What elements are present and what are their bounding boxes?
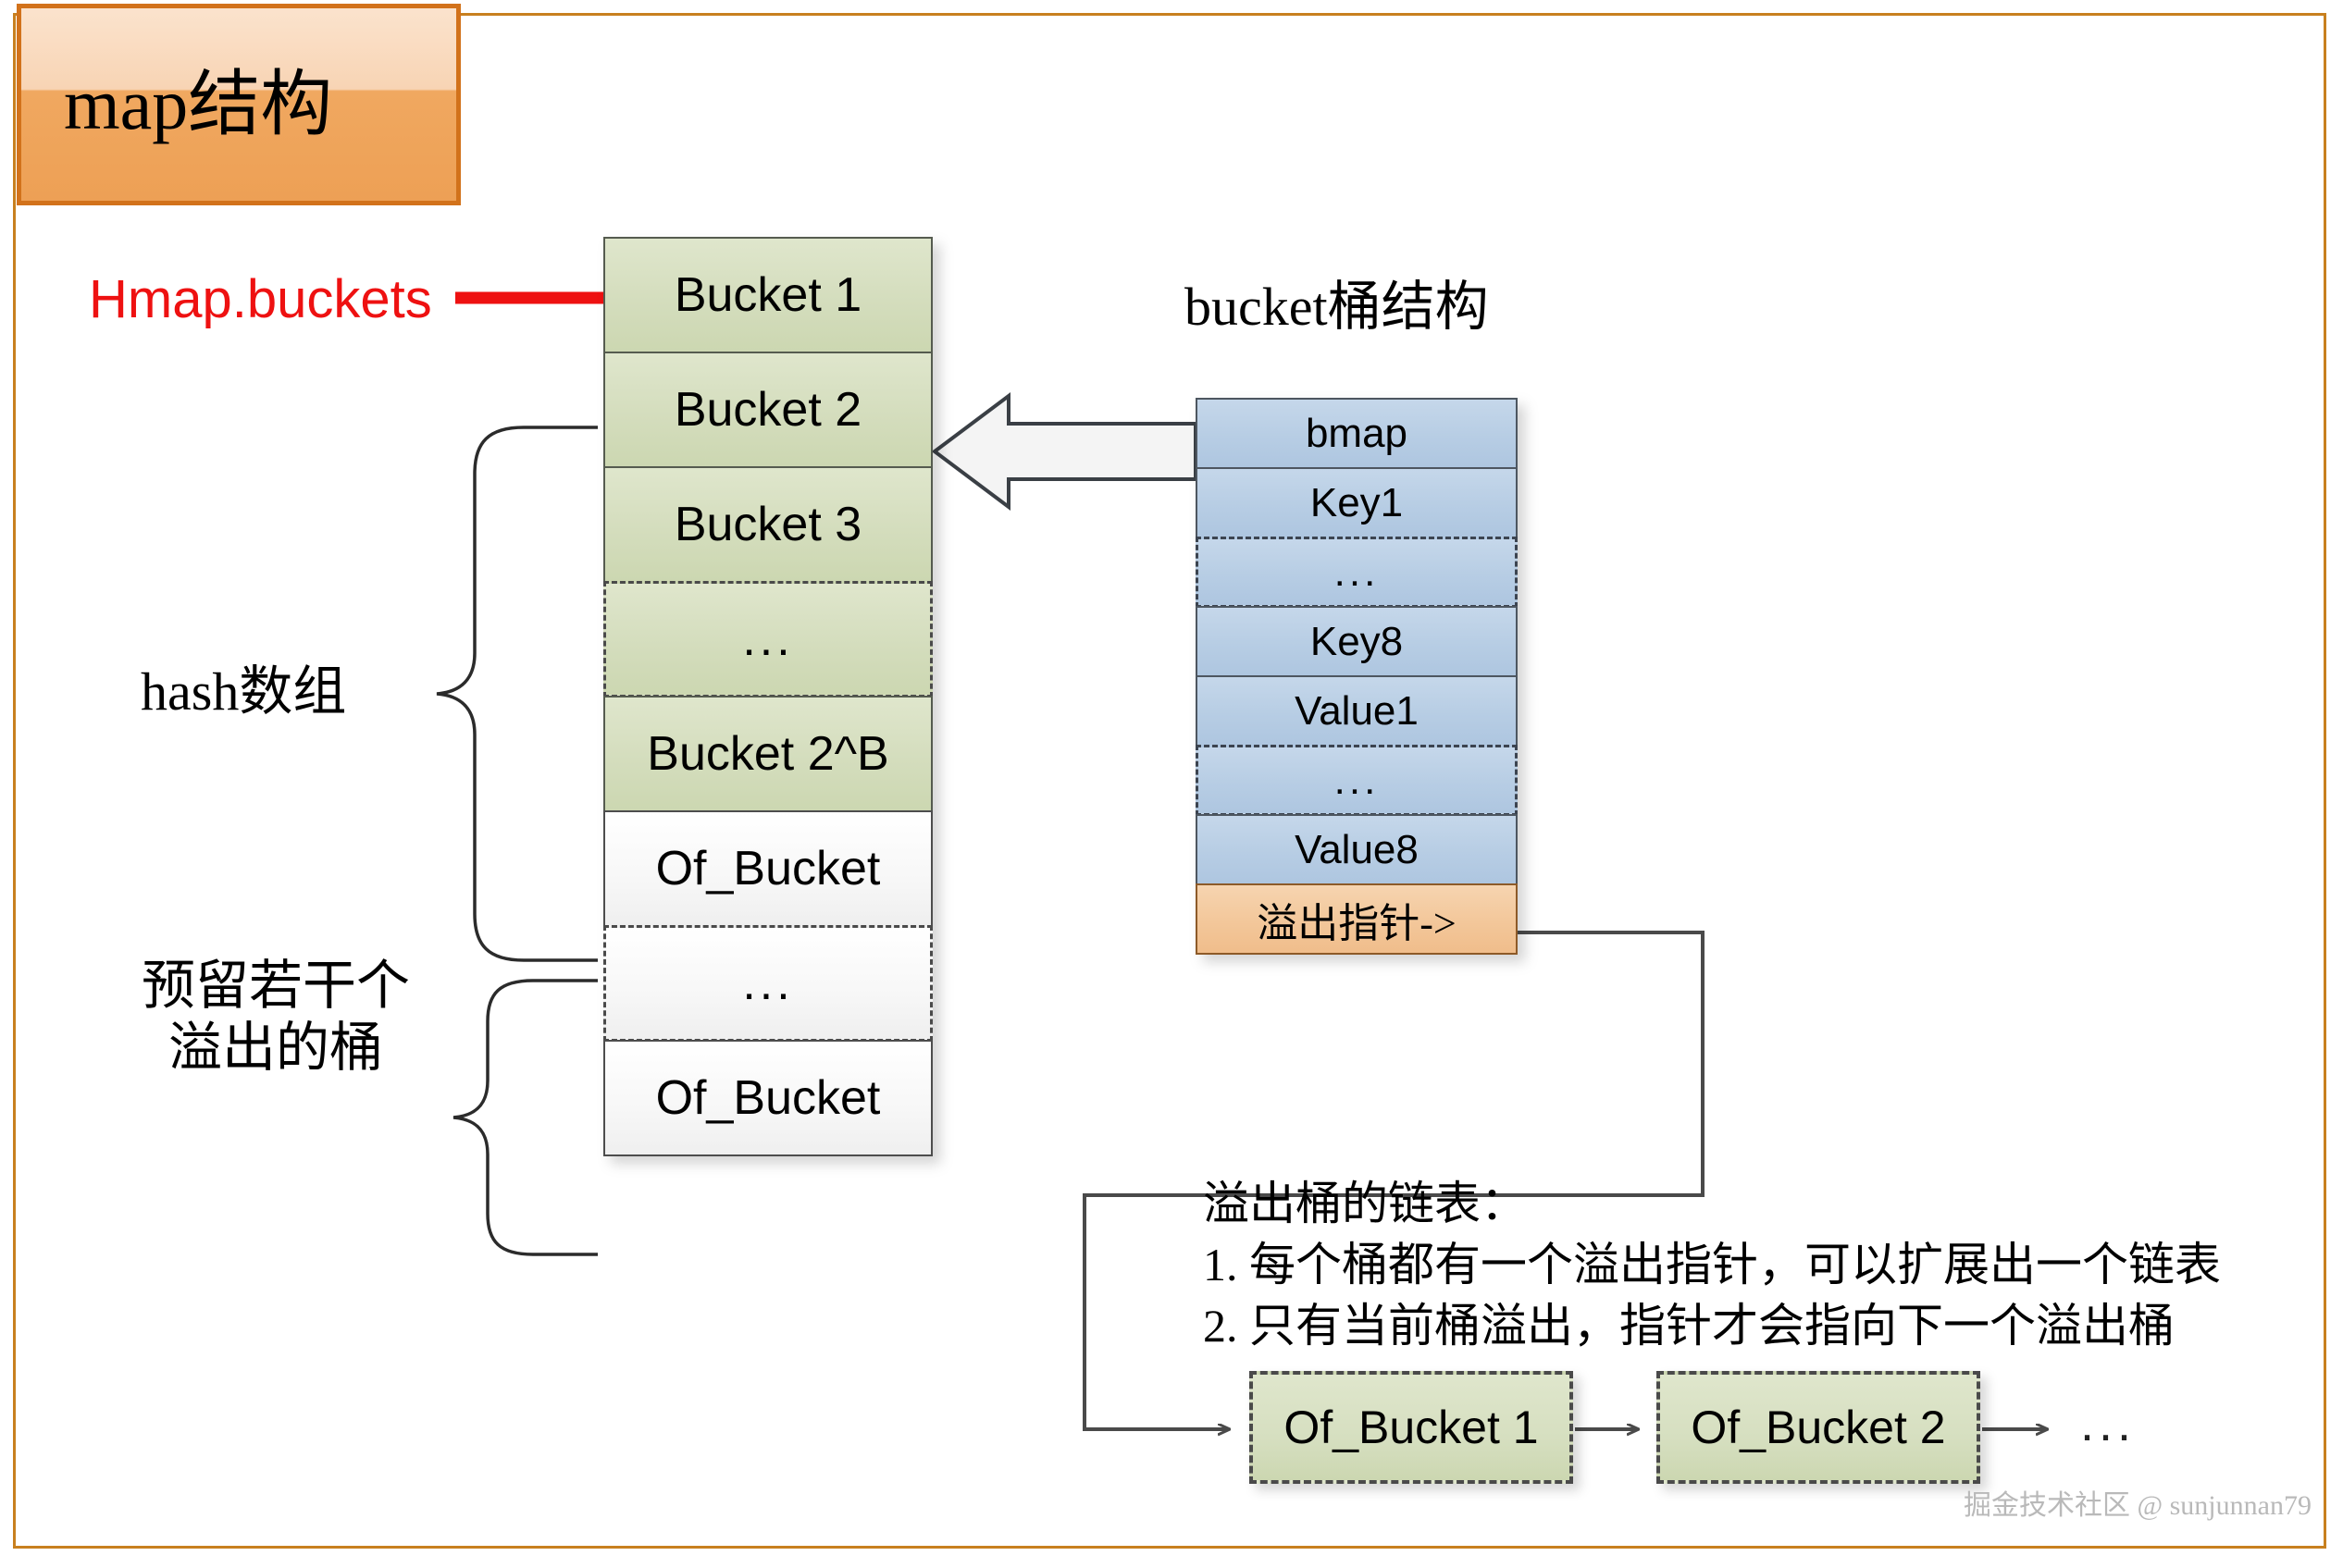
bucket-cell-label: ...	[742, 956, 793, 1011]
overflow-bucket-cell-ellipsis: ...	[603, 925, 933, 1042]
reserved-overflow-label: 预留若干个溢出的桶	[137, 955, 415, 1080]
bucket-cell-label: Of_Bucket	[656, 1070, 881, 1126]
bucket-cell-label: Bucket 2^B	[647, 726, 888, 782]
notes-item-2: 2. 只有当前桶溢出，指针才会指向下一个溢出桶	[1203, 1295, 2221, 1356]
notes-item-1: 1. 每个桶都有一个溢出指针，可以扩展出一个链表	[1203, 1234, 2221, 1295]
bmap-cell-value1[interactable]: Value1	[1196, 675, 1518, 747]
bucket-cell-3[interactable]: Bucket 3	[603, 466, 933, 583]
bucket-cell-label: Of_Bucket	[656, 841, 881, 896]
overflow-chain-box-label: Of_Bucket 2	[1691, 1401, 1945, 1454]
bmap-structure: bmap Key1 ... Key8 Value1 ... Value8 溢出指…	[1196, 398, 1518, 955]
bmap-cell-overflow-pointer[interactable]: 溢出指针->	[1196, 883, 1518, 955]
bmap-cell-label: ...	[1334, 549, 1380, 596]
bmap-cell-value8[interactable]: Value8	[1196, 814, 1518, 885]
hmap-buckets-label: Hmap.buckets	[89, 268, 432, 330]
overflow-bucket-cell-2[interactable]: Of_Bucket	[603, 1040, 933, 1156]
bmap-cell-keys-ellipsis: ...	[1196, 537, 1518, 608]
hash-bucket-array: Bucket 1 Bucket 2 Bucket 3 ... Bucket 2^…	[603, 237, 933, 1156]
bmap-cell-label: Value1	[1295, 688, 1419, 735]
slide-title-box: map结构	[17, 4, 461, 205]
bmap-cell-label: bmap	[1306, 411, 1407, 457]
overflow-chain-box-label: Of_Bucket 1	[1283, 1401, 1538, 1454]
bmap-cell-label: 溢出指针->	[1257, 890, 1456, 949]
bucket-cell-ellipsis: ...	[603, 581, 933, 698]
bucket-cell-1[interactable]: Bucket 1	[603, 237, 933, 353]
overflow-bucket-cell-1[interactable]: Of_Bucket	[603, 810, 933, 927]
bucket-cell-label: ...	[742, 611, 793, 667]
notes-heading: 溢出桶的链表：	[1203, 1173, 2221, 1234]
page-title: map结构	[21, 68, 332, 141]
bucket-structure-title: bucket桶结构	[1184, 263, 1489, 340]
bmap-cell-label: ...	[1334, 758, 1380, 804]
bucket-cell-label: Bucket 2	[675, 382, 862, 438]
bmap-cell-label: Key1	[1310, 480, 1403, 526]
bucket-cell-label: Bucket 1	[675, 267, 862, 323]
bucket-cell-2[interactable]: Bucket 2	[603, 352, 933, 468]
overflow-chain-ellipsis: ...	[2080, 1395, 2136, 1452]
bucket-cell-last[interactable]: Bucket 2^B	[603, 696, 933, 812]
bmap-cell-key1[interactable]: Key1	[1196, 467, 1518, 538]
bmap-cell-header[interactable]: bmap	[1196, 398, 1518, 469]
watermark: 掘金技术社区 @ sunjunnan79	[1964, 1482, 2312, 1523]
overflow-chain-box-1[interactable]: Of_Bucket 1	[1249, 1371, 1573, 1484]
overflow-chain-notes: 溢出桶的链表： 1. 每个桶都有一个溢出指针，可以扩展出一个链表 2. 只有当前…	[1203, 1173, 2221, 1356]
bmap-cell-label: Value8	[1295, 827, 1419, 873]
bucket-cell-label: Bucket 3	[675, 497, 862, 552]
bmap-cell-key8[interactable]: Key8	[1196, 606, 1518, 677]
overflow-chain-box-2[interactable]: Of_Bucket 2	[1656, 1371, 1980, 1484]
hash-array-label: hash数组	[141, 648, 346, 725]
bmap-cell-values-ellipsis: ...	[1196, 745, 1518, 816]
bmap-cell-label: Key8	[1310, 619, 1403, 665]
